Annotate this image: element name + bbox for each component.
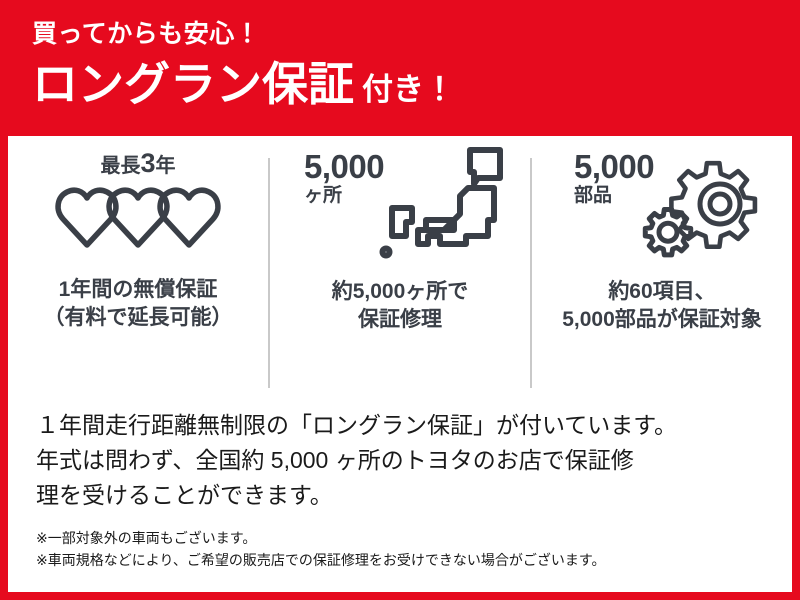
footnote-1: ※一部対象外の車両もございます。	[36, 528, 780, 550]
warranty-period-stat: 最長3年	[8, 144, 268, 270]
body-line-3: 理を受けることができます。	[36, 478, 776, 513]
feature-service-locations: 5,000 ヶ所	[270, 144, 530, 396]
banner-header: 買ってからも安心！ ロングラン保証付き！	[0, 0, 800, 136]
service-locations-caption: 約5,000ヶ所で 保証修理	[332, 278, 469, 333]
content-card: 最長3年 1年間の無償保証 （有料で延長可能）	[8, 136, 792, 592]
japan-map-icon	[378, 144, 506, 275]
warranty-period-unit: 年	[156, 155, 176, 177]
warranty-period-label: 最長3年	[100, 150, 175, 177]
service-locations-unit: ヶ所	[304, 186, 384, 205]
headline-suffix-text: 付き！	[362, 72, 455, 107]
covered-parts-caption-line2: 5,000部品が保証対象	[562, 306, 762, 334]
body-paragraph: １年間走行距離無制限の「ロングラン保証」が付いています。 年式は問わず、全国約 …	[36, 408, 776, 513]
service-locations-caption-line2: 保証修理	[332, 306, 469, 334]
covered-parts-caption: 約60項目、 5,000部品が保証対象	[562, 278, 762, 333]
service-locations-label: 5,000 ヶ所	[304, 150, 384, 205]
footnotes: ※一部対象外の車両もございます。 ※車両規格などにより、ご希望の販売店での保証修…	[36, 528, 780, 571]
header-kicker: 買ってからも安心！	[32, 22, 800, 47]
warranty-period-caption-line2: （有料で延長可能）	[44, 304, 233, 332]
warranty-period-caption: 1年間の無償保証 （有料で延長可能）	[44, 276, 233, 331]
service-locations-caption-line1: 約5,000ヶ所で	[332, 278, 469, 306]
body-line-1: １年間走行距離無制限の「ロングラン保証」が付いています。	[36, 408, 776, 443]
service-locations-number: 5,000	[304, 150, 384, 184]
body-line-2: 年式は問わず、全国約 5,000 ヶ所のトヨタのお店で保証修	[36, 443, 776, 478]
headline-main-text: ロングラン保証	[32, 58, 354, 110]
three-hearts-icon	[54, 183, 222, 256]
feature-columns: 最長3年 1年間の無償保証 （有料で延長可能）	[8, 144, 792, 396]
warranty-period-caption-line1: 1年間の無償保証	[44, 276, 233, 304]
warranty-period-prefix: 最長	[100, 155, 140, 177]
warranty-period-number: 3	[140, 148, 155, 178]
longrun-warranty-banner: 買ってからも安心！ ロングラン保証付き！ 最長3年	[0, 0, 800, 600]
service-locations-stat: 5,000 ヶ所	[270, 144, 530, 272]
covered-parts-stat: 5,000 部品	[532, 144, 792, 272]
header-headline: ロングラン保証付き！	[32, 61, 800, 107]
feature-covered-parts: 5,000 部品	[532, 144, 792, 396]
covered-parts-caption-line1: 約60項目、	[562, 278, 762, 306]
gears-icon	[640, 158, 766, 267]
footnote-2: ※車両規格などにより、ご希望の販売店での保証修理をお受けできない場合がございます…	[36, 550, 780, 572]
feature-warranty-period: 最長3年 1年間の無償保証 （有料で延長可能）	[8, 144, 268, 396]
